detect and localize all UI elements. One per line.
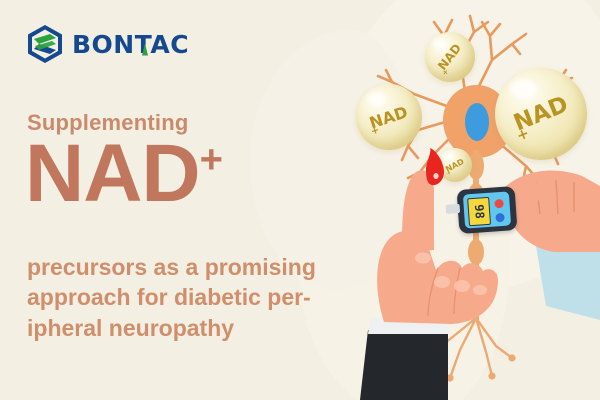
illustration-area: NAD+ NAD+ NAD+ NAD+ (340, 0, 600, 400)
knuckle-highlight (454, 280, 470, 292)
left-sleeve (360, 330, 448, 400)
subtitle-line-2: approach for diabetic per- (27, 282, 357, 312)
blood-drop-icon (426, 148, 444, 185)
page-title: NAD+ (25, 135, 222, 213)
hexagon-leaf-logo-icon (26, 24, 64, 64)
meter-select-button[interactable] (495, 213, 505, 223)
poster-canvas: BONTAC Supplementing NAD+ precursors as … (0, 0, 600, 400)
blood-drop-highlight (433, 173, 438, 179)
meter-reading-value: 98 (472, 204, 487, 219)
brand-logo[interactable]: BONTAC (26, 24, 189, 64)
page-title-superscript: + (200, 138, 222, 182)
brand-wordmark: BONTAC (72, 32, 189, 57)
meter-power-button[interactable] (494, 199, 504, 209)
knuckle-highlight (415, 253, 431, 264)
glucose-meter[interactable]: 98 (457, 186, 518, 234)
brand-name-text: BONTAC (72, 30, 189, 59)
meter-screen: 98 (463, 191, 511, 228)
knuckle-highlight (434, 276, 450, 288)
page-title-main: NAD (25, 128, 200, 219)
subtitle-text: precursors as a promising approach for d… (27, 252, 357, 343)
knuckle-highlight (473, 285, 487, 295)
test-strip-icon (446, 204, 461, 214)
subtitle-line-1: precursors as a promising (27, 252, 357, 282)
subtitle-line-3: ipheral neuropathy (27, 313, 357, 343)
meter-reading-display: 98 (467, 197, 491, 226)
